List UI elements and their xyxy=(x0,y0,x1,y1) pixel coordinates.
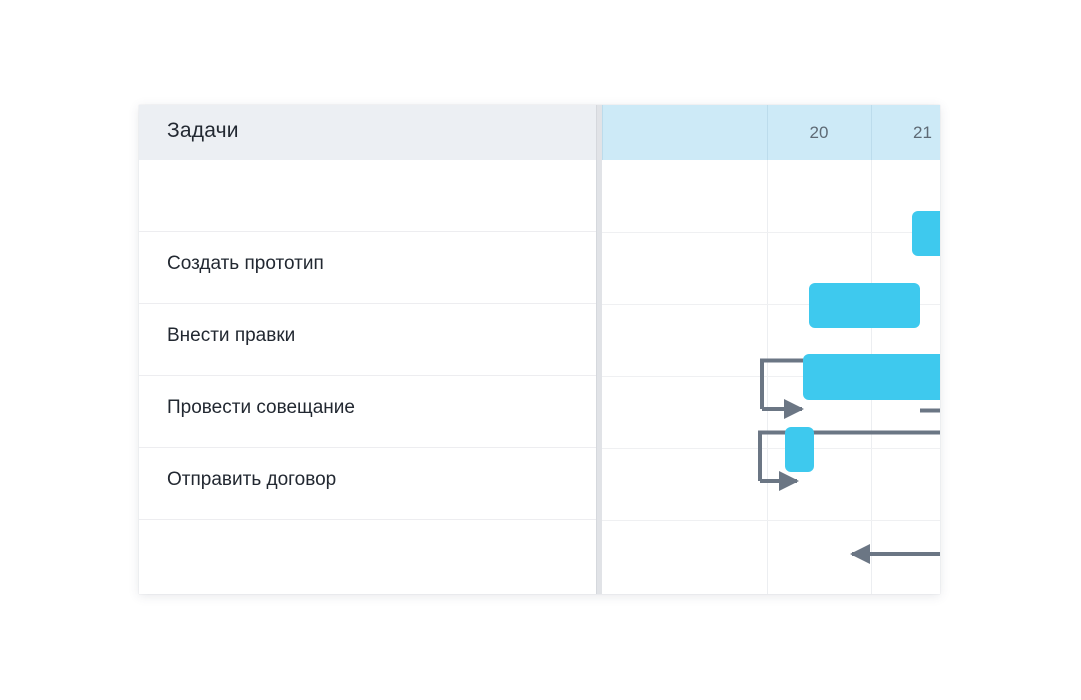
gantt-bars-and-links xyxy=(602,160,940,594)
timeline-day-header[interactable]: 20 xyxy=(767,105,871,160)
task-row[interactable]: Провести совещание xyxy=(139,376,596,448)
gantt-card: Задачи Создать прототип Внести правки Пр… xyxy=(139,105,940,594)
task-row[interactable]: Создать прототип xyxy=(139,232,596,304)
timeline-day-header[interactable]: 21 xyxy=(871,105,940,160)
task-column-header: Задачи xyxy=(139,105,596,160)
gantt-bar-task-1[interactable] xyxy=(912,211,940,256)
task-row[interactable]: Отправить договор xyxy=(139,448,596,520)
task-list-pane: Задачи Создать прототип Внести правки Пр… xyxy=(139,105,596,594)
splitter-edge xyxy=(596,105,597,594)
day-separator xyxy=(602,105,603,160)
task-row-empty-bottom xyxy=(139,520,596,592)
timeline-pane: 20 21 22 xyxy=(602,105,940,594)
timeline-header: 20 21 22 xyxy=(602,105,940,160)
task-row-label: Провести совещание xyxy=(167,397,355,419)
gantt-bar-task-4[interactable] xyxy=(785,427,814,472)
task-row-label: Внести правки xyxy=(167,325,295,347)
dependency-link-3-to-4 xyxy=(852,482,940,554)
task-row-label: Создать прототип xyxy=(167,253,324,275)
gantt-chart-screenshot: Задачи Создать прототип Внести правки Пр… xyxy=(0,0,1081,700)
task-row-empty-top xyxy=(139,160,596,232)
task-column-header-label: Задачи xyxy=(167,119,239,143)
task-row[interactable]: Внести правки xyxy=(139,304,596,376)
gantt-bar-task-3[interactable] xyxy=(803,354,940,400)
gantt-bar-task-2[interactable] xyxy=(809,283,920,328)
task-row-label: Отправить договор xyxy=(167,469,336,491)
